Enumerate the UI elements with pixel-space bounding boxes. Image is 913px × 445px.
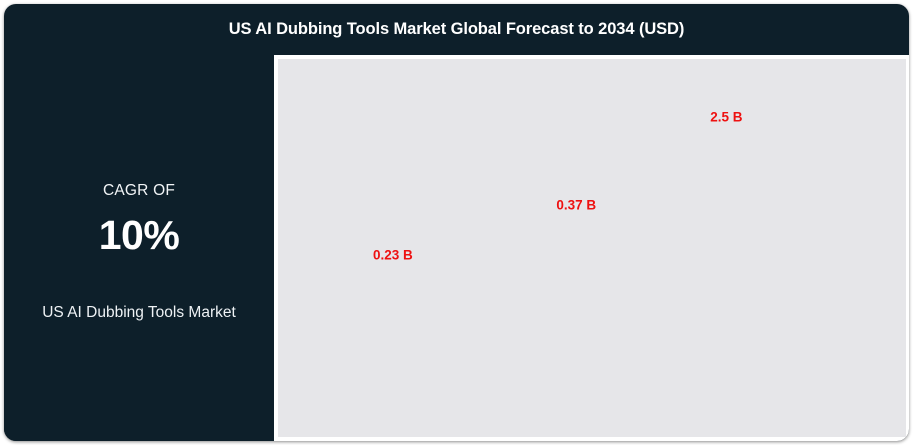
infographic-root: US AI Dubbing Tools Market Global Foreca… bbox=[0, 0, 913, 445]
chart-plot-area: 0.23 B0.37 B2.5 B bbox=[274, 55, 909, 441]
data-value-label: 0.23 B bbox=[373, 248, 413, 263]
forecast-card: US AI Dubbing Tools Market Global Foreca… bbox=[4, 4, 909, 441]
data-value-label: 2.5 B bbox=[710, 109, 742, 124]
cagr-value: 10% bbox=[4, 213, 274, 258]
page-title: US AI Dubbing Tools Market Global Foreca… bbox=[229, 20, 685, 39]
cagr-label: CAGR OF bbox=[4, 182, 274, 200]
chart-plot-canvas: 0.23 B0.37 B2.5 B bbox=[278, 59, 906, 437]
data-value-label: 0.37 B bbox=[556, 197, 596, 212]
market-name-label: US AI Dubbing Tools Market bbox=[4, 304, 274, 322]
chart-header: US AI Dubbing Tools Market Global Foreca… bbox=[4, 4, 909, 55]
cagr-stat-panel: CAGR OF 10% US AI Dubbing Tools Market bbox=[4, 55, 274, 441]
